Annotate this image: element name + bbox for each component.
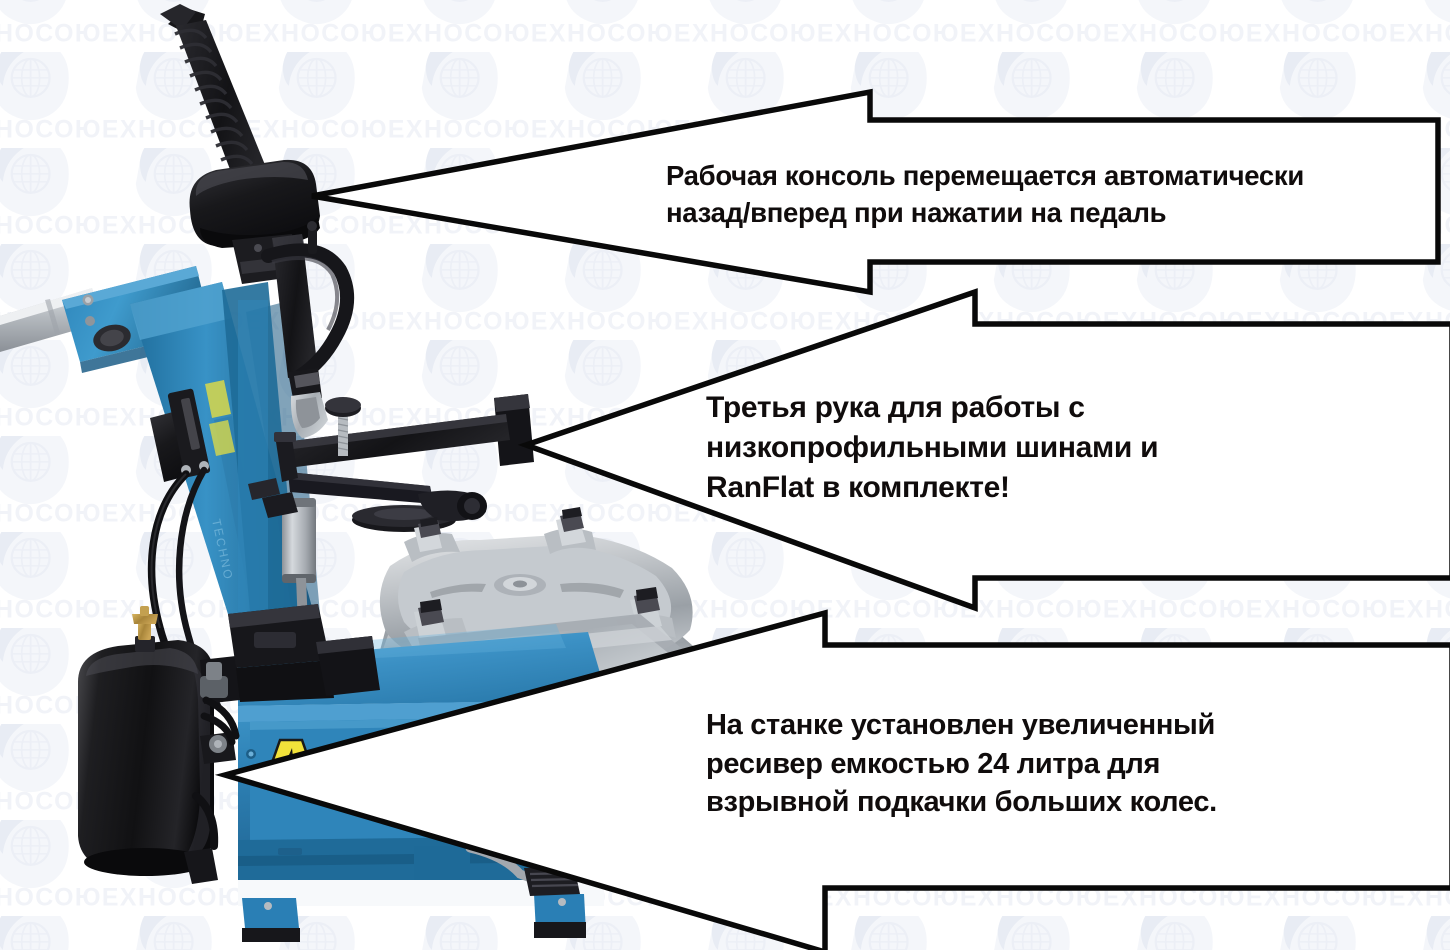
callout-receiver-line3: взрывной подкачки больших колес.: [706, 783, 1366, 822]
callout-console-line1: Рабочая консоль перемещается автоматичес…: [666, 158, 1436, 195]
callout-receiver-line2: ресивер емкостью 24 литра для: [706, 745, 1366, 784]
callout-receiver-text: На станке установлен увеличенный ресивер…: [706, 706, 1366, 822]
callout-third-arm-line2: низкопрофильными шинами и: [706, 428, 1306, 468]
callout-console-line2: назад/вперед при нажатии на педаль: [666, 195, 1436, 232]
callout-third-arm-line3: RanFlat в комплекте!: [706, 468, 1306, 508]
callout-receiver-line1: На станке установлен увеличенный: [706, 706, 1366, 745]
callout-third-arm-line1: Третья рука для работы с: [706, 388, 1306, 428]
callout-third-arm-text: Третья рука для работы с низкопрофильным…: [706, 388, 1306, 508]
product-annotation-image: ТЕХНОСОЮЗ ®: [0, 0, 1450, 950]
callout-layer: Рабочая консоль перемещается автоматичес…: [0, 0, 1450, 950]
callout-console-text: Рабочая консоль перемещается автоматичес…: [666, 158, 1436, 231]
